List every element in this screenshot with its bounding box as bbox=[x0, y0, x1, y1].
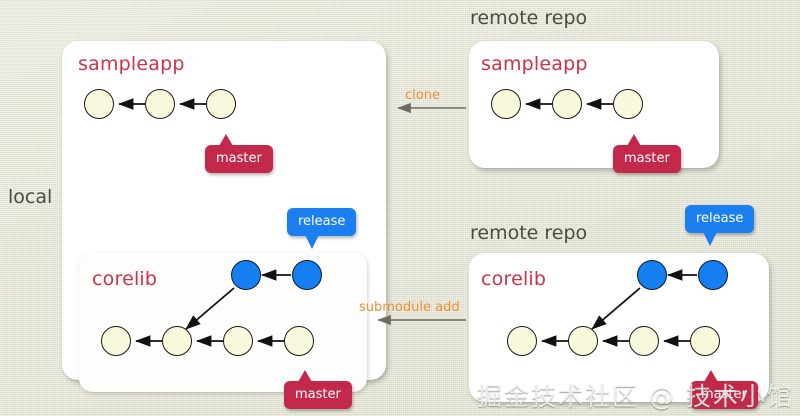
label-local: local bbox=[8, 186, 52, 208]
callout-nib bbox=[627, 134, 641, 146]
repo-title-local-sampleapp: sampleapp bbox=[78, 53, 185, 75]
branch-tag-release[interactable]: release bbox=[287, 208, 356, 236]
callout-nib bbox=[704, 370, 718, 382]
commit-node[interactable] bbox=[552, 89, 582, 119]
commit-node[interactable] bbox=[162, 326, 192, 356]
callout-nib bbox=[219, 134, 233, 146]
callout-nib bbox=[703, 232, 717, 246]
release-commit-node[interactable] bbox=[637, 260, 667, 290]
release-commit-node[interactable] bbox=[231, 260, 261, 290]
label-remote-repo-bottom: remote repo bbox=[470, 222, 587, 244]
label-submodule-add: submodule add bbox=[359, 300, 460, 315]
label-remote-repo-top: remote repo bbox=[470, 7, 587, 29]
branch-tag-label: release bbox=[298, 214, 345, 229]
release-commit-node[interactable] bbox=[698, 260, 728, 290]
branch-tag-label: master bbox=[216, 151, 262, 166]
repo-title-remote-sampleapp: sampleapp bbox=[481, 53, 588, 75]
commit-node[interactable] bbox=[101, 326, 131, 356]
commit-node[interactable] bbox=[491, 89, 521, 119]
commit-node[interactable] bbox=[629, 326, 659, 356]
branch-tag-release[interactable]: release bbox=[685, 205, 754, 233]
branch-tag-label: master bbox=[701, 387, 747, 402]
callout-nib bbox=[298, 370, 312, 382]
repo-title-local-corelib: corelib bbox=[92, 268, 157, 290]
commit-node[interactable] bbox=[613, 89, 643, 119]
commit-node[interactable] bbox=[507, 326, 537, 356]
branch-tag-master[interactable]: master bbox=[690, 381, 758, 409]
commit-node[interactable] bbox=[145, 89, 175, 119]
repo-title-remote-corelib: corelib bbox=[481, 268, 546, 290]
commit-node[interactable] bbox=[690, 326, 720, 356]
release-commit-node[interactable] bbox=[292, 260, 322, 290]
commit-node[interactable] bbox=[223, 326, 253, 356]
branch-tag-master[interactable]: master bbox=[205, 145, 273, 173]
commit-node[interactable] bbox=[206, 89, 236, 119]
branch-tag-master[interactable]: master bbox=[613, 145, 681, 173]
branch-tag-label: master bbox=[624, 151, 670, 166]
commit-node[interactable] bbox=[84, 89, 114, 119]
callout-nib bbox=[305, 235, 319, 249]
commit-node[interactable] bbox=[284, 326, 314, 356]
label-clone: clone bbox=[405, 88, 440, 103]
branch-tag-label: master bbox=[295, 387, 341, 402]
commit-node[interactable] bbox=[568, 326, 598, 356]
branch-tag-label: release bbox=[696, 211, 743, 226]
branch-tag-master[interactable]: master bbox=[284, 381, 352, 409]
